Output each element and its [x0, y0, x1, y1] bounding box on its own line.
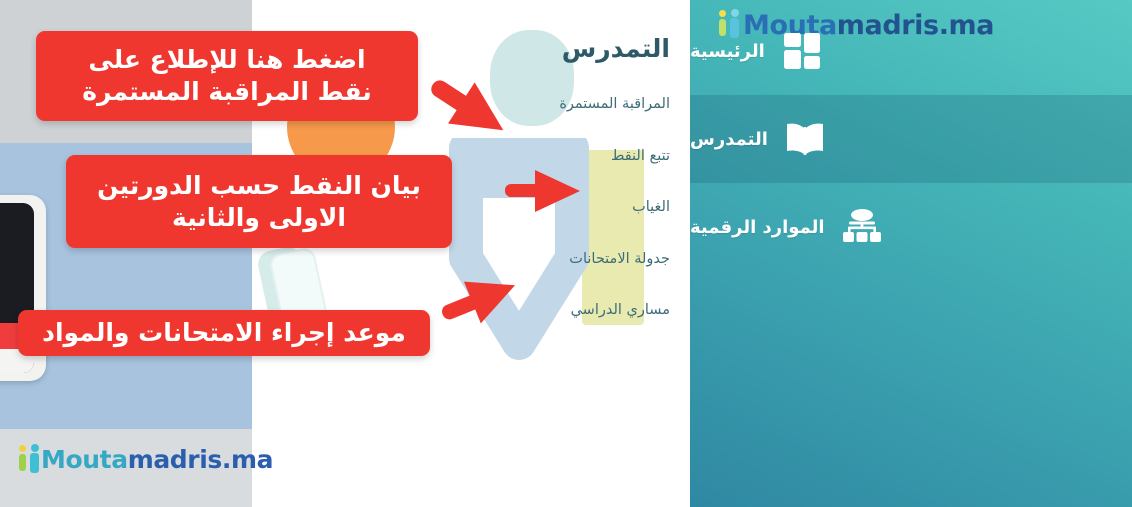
- dashboard-grid-icon: [779, 28, 825, 74]
- sidebar-item-digital-resources-label: الموارد الرقمية: [690, 217, 825, 238]
- callout-continuous-assessment: اضغط هنا للإطلاع على نقط المراقبة المستم…: [36, 31, 418, 121]
- menu-title: التمدرس: [440, 36, 670, 61]
- annotation-arrow-down-right: [424, 78, 516, 142]
- menu-item-grades-tracking[interactable]: تتبع النقط: [440, 149, 670, 164]
- main-sidebar: Moutamadris.ma الرئيسية: [690, 0, 1132, 507]
- callout-2-line-2: الاولى والثانية: [172, 203, 346, 232]
- network-sitemap-icon: [839, 204, 885, 250]
- callout-2-line-1: بيان النقط حسب الدورتين: [97, 171, 421, 200]
- callout-1-line-1: اضغط هنا للإطلاع على: [88, 45, 365, 74]
- sidebar-item-schooling[interactable]: التمدرس: [690, 95, 1132, 183]
- annotation-arrow-up-right: [438, 272, 522, 332]
- sidebar-item-digital-resources[interactable]: الموارد الرقمية: [690, 183, 1132, 271]
- sidebar-item-home[interactable]: الرئيسية: [690, 7, 1132, 95]
- annotation-arrow-right: [504, 166, 582, 220]
- footer-logo-text-a: Mouta: [41, 445, 128, 474]
- sidebar-nav-list: الرئيسية التمدرس: [690, 0, 1132, 507]
- footer-logo-text-b: madris.ma: [128, 445, 273, 474]
- footer-logo: Moutamadris.ma: [18, 444, 273, 474]
- screenshot-root: التمدرس المراقبة المستمرة تتبع النقط الغ…: [0, 0, 1132, 507]
- sidebar-item-home-label: الرئيسية: [690, 41, 765, 62]
- sidebar-item-schooling-label: التمدرس: [690, 129, 768, 150]
- footer-logo-people-icon: [18, 444, 44, 474]
- callout-grades-by-semester: بيان النقط حسب الدورتين الاولى والثانية: [66, 155, 452, 248]
- callout-1-line-2: نقط المراقبة المستمرة: [82, 77, 372, 106]
- open-book-icon: [782, 116, 828, 162]
- callout-exam-dates: موعد إجراء الامتحانات والمواد: [18, 310, 430, 356]
- callout-3-line-1: موعد إجراء الامتحانات والمواد: [42, 318, 406, 348]
- menu-item-exam-schedule[interactable]: جدولة الامتحانات: [440, 252, 670, 267]
